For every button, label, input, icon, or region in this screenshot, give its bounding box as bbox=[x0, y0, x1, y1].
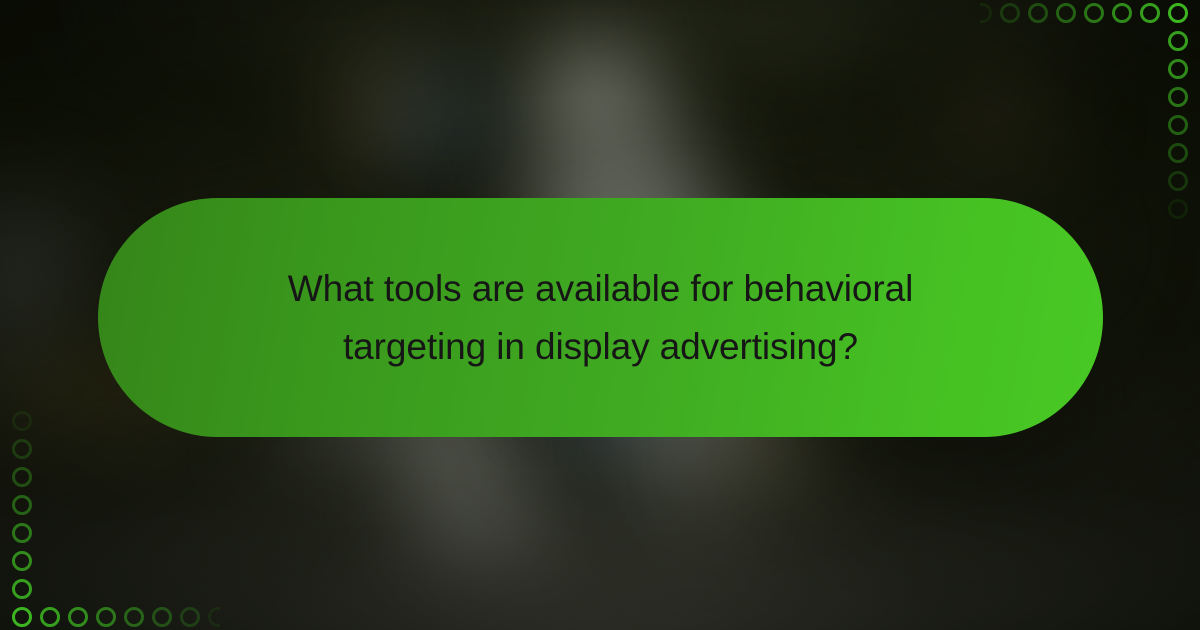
question-text: What tools are available for behavioral … bbox=[251, 260, 951, 375]
dot-pattern-top-right bbox=[980, 0, 1200, 230]
screenshot-canvas: What tools are available for behavioral … bbox=[0, 0, 1200, 630]
dot-pattern-bottom-left bbox=[0, 400, 220, 630]
question-card: What tools are available for behavioral … bbox=[98, 198, 1103, 437]
